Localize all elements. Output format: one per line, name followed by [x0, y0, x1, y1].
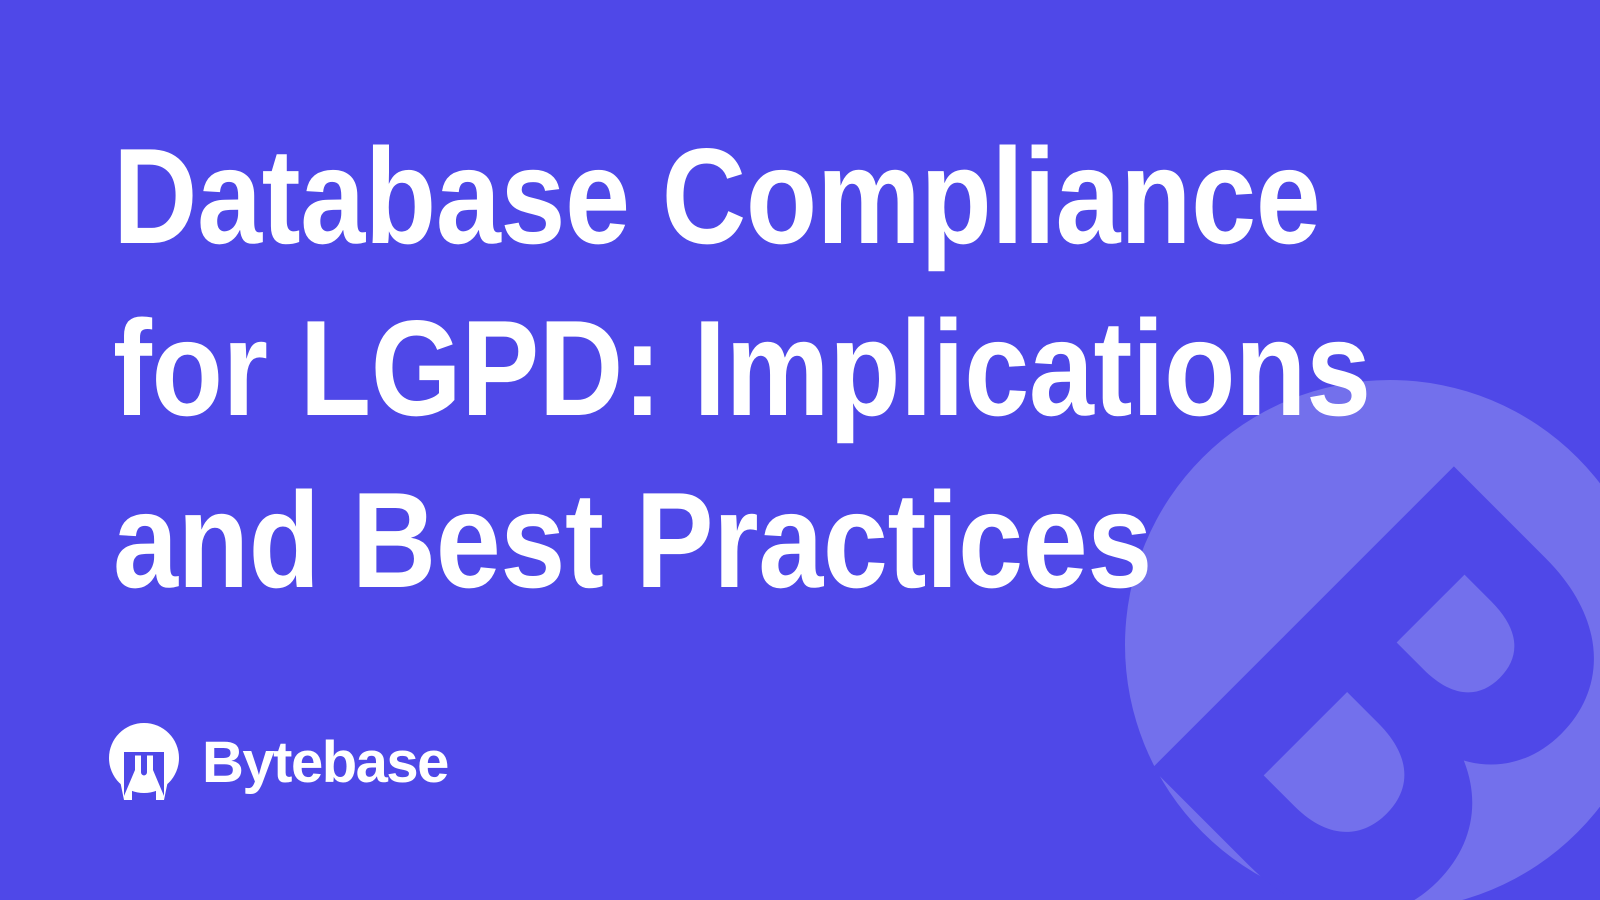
bytebase-logo-icon — [108, 722, 180, 800]
title-line-2: for LGPD: Implications — [113, 282, 1222, 454]
page-title: Database Compliance for LGPD: Implicatio… — [113, 110, 1403, 626]
title-line-1: Database Compliance — [113, 110, 1222, 282]
title-line-3: and Best Practices — [113, 454, 1222, 626]
cover-canvas: Database Compliance for LGPD: Implicatio… — [0, 0, 1600, 900]
brand-wordmark: Bytebase — [202, 734, 448, 792]
brand-logo: Bytebase — [108, 722, 448, 800]
